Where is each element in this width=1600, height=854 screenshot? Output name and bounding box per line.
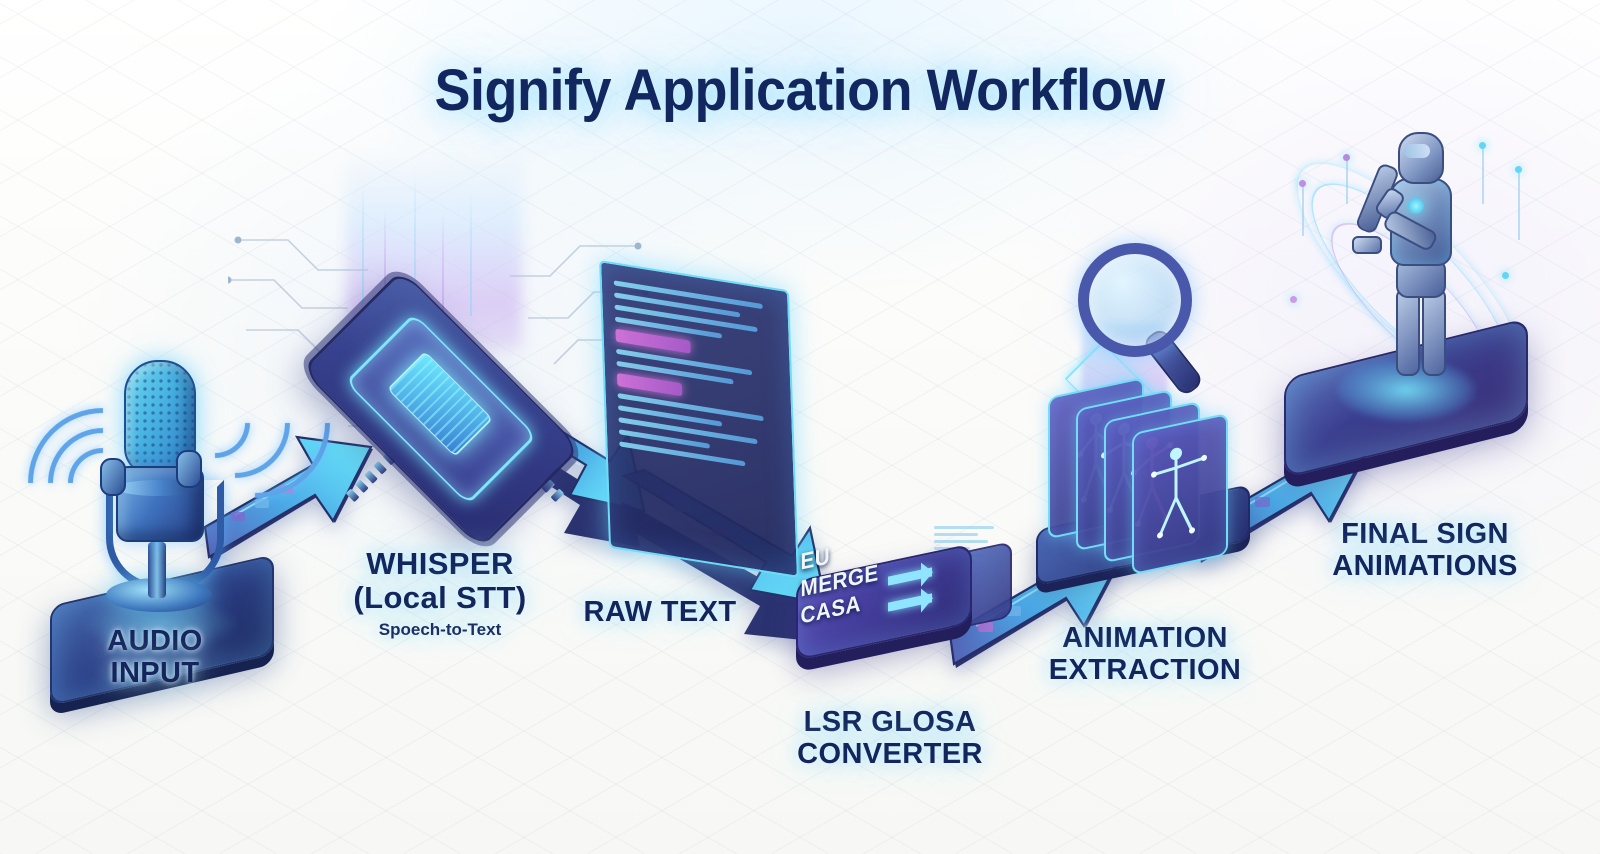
animation-frame-card: [1132, 413, 1228, 575]
node-whisper: [288, 150, 588, 520]
orbit-node: [1479, 142, 1486, 149]
orbit-node: [1299, 180, 1306, 187]
label-animation-extraction: ANIMATION EXTRACTION: [1030, 622, 1260, 687]
node-animation-extraction: [1020, 235, 1260, 565]
label-whisper: WHISPER (Local STT) Spoech-to-Text: [300, 512, 580, 674]
skeleton-figure-icon: [1134, 415, 1226, 573]
orbit-node-stem: [1518, 170, 1520, 240]
label-whisper-sub: Spoech-to-Text: [300, 620, 580, 639]
robot-chest-light: [1408, 198, 1424, 214]
label-final-sign-animations: FINAL SIGN ANIMATIONS: [1300, 518, 1550, 583]
node-final-sign-animations: [1250, 110, 1570, 460]
glosa-inner-text: EU MERGE CASA: [801, 531, 882, 630]
orbit-node-stem: [1302, 184, 1304, 236]
label-lsr-glosa-converter: LSR GLOSA CONVERTER: [760, 706, 1020, 771]
label-audio-input: AUDIO INPUT: [20, 625, 290, 690]
robot-head: [1398, 132, 1444, 184]
magnifier-icon: [1078, 243, 1192, 357]
label-raw-text: RAW TEXT: [560, 596, 760, 628]
orbit-node-stem: [1482, 146, 1484, 204]
text-document-icon: [599, 260, 799, 578]
orbit-node-stem: [1346, 158, 1348, 204]
robot-leg: [1422, 288, 1446, 376]
robot-leg: [1396, 288, 1420, 376]
mic-knob-icon: [100, 458, 126, 496]
page-title: Signify Application Workflow: [435, 61, 1165, 122]
node-raw-text: [598, 270, 788, 560]
mic-stem: [148, 542, 166, 598]
robot-hand-forward: [1352, 236, 1382, 254]
workflow-diagram: Signify Application Workflow: [0, 0, 1600, 854]
orbit-node: [1290, 296, 1297, 303]
robot-avatar-icon: [1360, 132, 1470, 384]
label-whisper-main: WHISPER (Local STT): [353, 546, 526, 616]
robot-visor: [1404, 144, 1430, 158]
mic-knob-icon: [176, 450, 202, 488]
orbit-node: [1502, 272, 1509, 279]
orbit-node: [1515, 166, 1522, 173]
orbit-node: [1343, 154, 1350, 161]
node-lsr-glosa-converter: EU MERGE CASA: [780, 520, 1010, 680]
